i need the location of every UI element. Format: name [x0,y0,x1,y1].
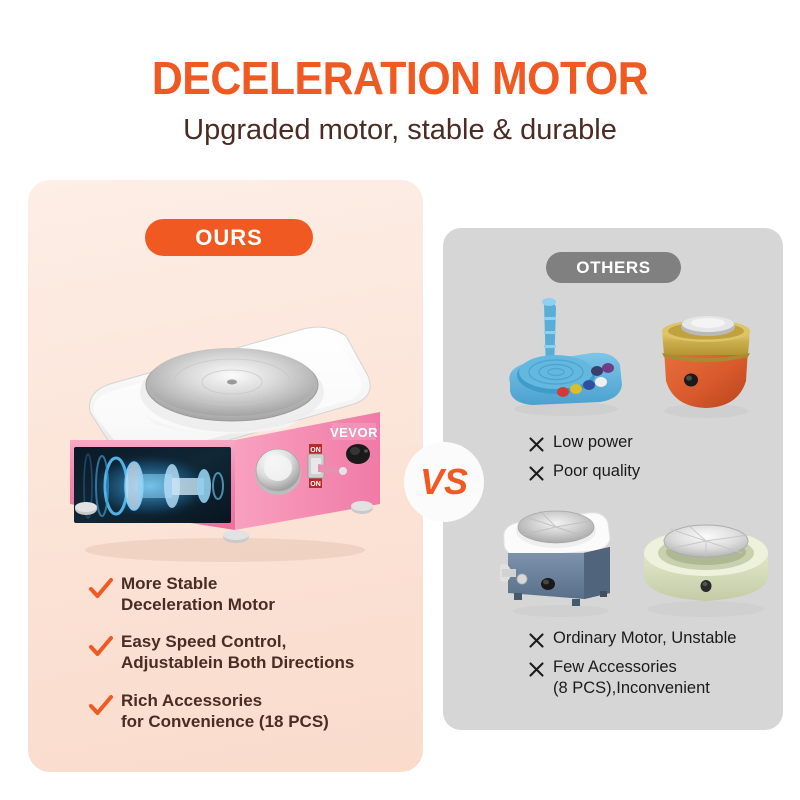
check-icon [88,693,114,719]
feature-label: More Stable Deceleration Motor [121,574,275,615]
drawback-item: Low power [528,432,778,453]
drawback-label: Ordinary Motor, Unstable [553,628,736,649]
drawback-item: Poor quality [528,461,778,482]
drawback-label: Few Accessories (8 PCS),Inconvenient [553,657,710,698]
check-icon [88,634,114,660]
vs-badge: VS [404,442,484,522]
feature-label: Rich Accessories for Convenience (18 PCS… [121,691,329,732]
x-icon [528,632,545,649]
feature-label: Easy Speed Control, Adjustablein Both Di… [121,632,354,673]
feature-item: More Stable Deceleration Motor [88,574,408,615]
feature-item: Rich Accessories for Convenience (18 PCS… [88,691,408,732]
ours-badge: OURS [145,219,313,256]
header-banner: DECELERATION MOTOR Upgraded motor, stabl… [0,0,800,172]
feature-item: Easy Speed Control, Adjustablein Both Di… [88,632,408,673]
check-icon [88,576,114,602]
page-subtitle: Upgraded motor, stable & durable [0,115,800,147]
x-icon [528,436,545,453]
others-products-group-1 [500,296,780,424]
product-brand-label: VEVOR [330,425,378,440]
ours-feature-list: More Stable Deceleration Motor Easy Spee… [88,574,408,749]
drawback-item: Few Accessories (8 PCS),Inconvenient [528,657,778,698]
beige-round-pottery-wheel-image [636,495,776,624]
page-title: DECELERATION MOTOR [28,55,772,101]
ours-product-image: VEVOR ON ON [50,292,410,572]
others-drawbacks-group-2: Ordinary Motor, Unstable Few Accessories… [528,628,778,706]
drawback-item: Ordinary Motor, Unstable [528,628,778,649]
others-badge: OTHERS [546,252,681,283]
switch-label-on-bottom: ON [310,481,321,488]
x-icon [528,661,545,678]
switch-label-on-top: ON [310,447,321,454]
orange-gold-pottery-wheel-image [650,297,762,424]
blue-gray-pottery-wheel-image [500,495,622,624]
blue-plastic-toy-wheel-image [500,291,632,424]
drawback-label: Low power [553,432,633,453]
others-drawbacks-group-1: Low power Poor quality [528,432,778,490]
drawback-label: Poor quality [553,461,640,482]
others-products-group-2 [500,500,780,624]
x-icon [528,465,545,482]
